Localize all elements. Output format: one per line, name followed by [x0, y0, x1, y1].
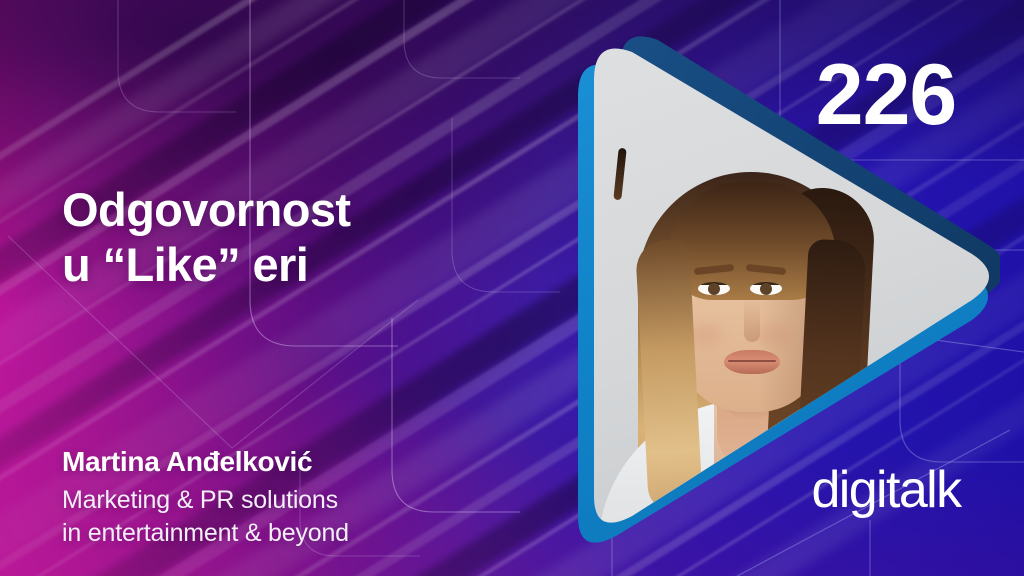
episode-title-line1: Odgovornost [62, 183, 350, 236]
speaker-role-line2: in entertainment & beyond [62, 517, 502, 550]
episode-title: Odgovornost u “Like” eri [62, 182, 492, 293]
brand-logo: digitalk [786, 464, 986, 516]
speaker-role: Marketing & PR solutions in entertainmen… [62, 484, 502, 550]
speaker-role-line1: Marketing & PR solutions [62, 486, 338, 514]
episode-title-line2: u “Like” eri [62, 237, 492, 292]
podcast-episode-cover: Odgovornost u “Like” eri Martina Anđelko… [0, 0, 1024, 576]
episode-number: 226 [786, 52, 986, 138]
speaker-name: Martina Anđelković [62, 446, 502, 478]
